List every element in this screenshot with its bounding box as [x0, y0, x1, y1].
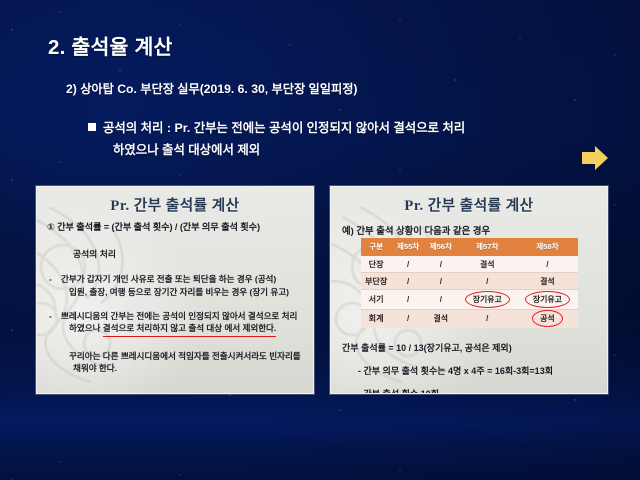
- left-content-panel: Pr. 간부 출석률 계산 ① 간부 출석률 = (간부 출석 횟수) / (간…: [36, 186, 314, 394]
- circled-highlight: 장기유고: [466, 293, 509, 306]
- attendance-formula: ① 간부 출석률 = (간부 출석 횟수) / (간부 의무 출석 횟수): [47, 221, 305, 234]
- left-item2-line2-underlined: 결석으로 처리하지 않고 출석 대상 에서 제외한다.: [103, 322, 277, 336]
- table-cell: /: [392, 309, 425, 328]
- table-header-cell: 제55차: [392, 238, 425, 256]
- bullet-line-1: 공석의 처리 : Pr. 간부는 전에는 공석이 인정되지 않아서 결석으로 처…: [103, 121, 465, 135]
- left-item1-line2: 입원, 출장, 여행 등으로 장기간 자리를 비우는 경우 (장기 유고): [61, 286, 305, 298]
- left-panel-title: Pr. 간부 출석률 계산: [37, 194, 313, 215]
- circled-highlight: 공석: [533, 312, 562, 325]
- table-row: 서기//장기유고장기유고: [361, 290, 578, 309]
- bullet-paragraph: 공석의 처리 : Pr. 간부는 전에는 공석이 인정되지 않아서 결석으로 처…: [88, 117, 578, 161]
- page-subtitle: 2) 상아탑 Co. 부단장 실무(2019. 6. 30, 부단장 일일피정): [66, 79, 357, 97]
- table-header-cell: 제56차: [424, 238, 457, 256]
- right-arrow-icon: [580, 143, 610, 173]
- right-panel-title: Pr. 간부 출석률 계산: [331, 194, 607, 215]
- table-cell: 결석: [457, 256, 517, 273]
- table-header-cell: 제58차: [517, 238, 577, 256]
- table-row-label: 회계: [361, 309, 392, 328]
- left-closing-line2: 채워야 한다.: [69, 362, 305, 374]
- calc-line-2: - 간부 의무 출석 횟수는 4명 x 4주 = 16회-3회=13회: [342, 365, 598, 377]
- table-header-cell: 구분: [361, 238, 392, 256]
- slide-canvas: 2. 출석율 계산 2) 상아탑 Co. 부단장 실무(2019. 6. 30,…: [0, 0, 640, 480]
- left-closing-note: 꾸리아는 다른 쁘레시디움에서 적임자를 전출시켜서라도 빈자리를 채워야 한다…: [47, 350, 305, 375]
- dash-marker: -: [49, 310, 52, 322]
- table-cell: 장기유고: [517, 290, 577, 309]
- table-cell: /: [517, 256, 577, 273]
- bullet-line-2: 하였으나 출석 대상에서 제외: [88, 139, 578, 161]
- calc-line-3: - 간부 출석 횟수 10회: [342, 388, 598, 394]
- table-row: 회계/결석/공석: [361, 309, 578, 328]
- example-intro-text: 예) 간부 출석 상황이 다음과 같은 경우: [342, 223, 490, 237]
- table-cell: /: [424, 256, 457, 273]
- left-list-item-1: - 간부가 갑자기 개인 사유로 전출 또는 퇴단을 하는 경우 (공석) 입원…: [47, 273, 305, 298]
- table-row: 단장//결석/: [361, 256, 578, 273]
- table-row-label: 부단장: [361, 273, 392, 290]
- table-cell: 결석: [517, 273, 577, 290]
- table-cell: 결석: [424, 309, 457, 328]
- attendance-table-wrapper: 구분 제55차 제56차 제57차 제58차 단장//결석/부단장///결석서기…: [360, 237, 578, 328]
- table-row: 부단장///결석: [361, 273, 578, 290]
- table-cell: /: [392, 256, 425, 273]
- attendance-table: 구분 제55차 제56차 제57차 제58차 단장//결석/부단장///결석서기…: [360, 237, 578, 328]
- left-item2-line2-prefix: 하였으나: [69, 323, 103, 333]
- circled-highlight: 장기유고: [526, 293, 569, 306]
- table-row-label: 단장: [361, 256, 392, 273]
- calculation-block: 간부 출석률 = 10 / 13(장기유고, 공석은 제외) - 간부 의무 출…: [342, 342, 598, 394]
- left-panel-body: ① 간부 출석률 = (간부 출석 횟수) / (간부 의무 출석 횟수) 공석…: [47, 221, 305, 375]
- left-item2-line1: 쁘레시디움의 간부는 전에는 공석이 인정되지 않아서 결석으로 처리: [61, 311, 297, 321]
- table-cell: /: [457, 273, 517, 290]
- table-cell: 공석: [517, 309, 577, 328]
- table-row-label: 서기: [361, 290, 392, 309]
- left-item1-line1: 간부가 갑자기 개인 사유로 전출 또는 퇴단을 하는 경우 (공석): [61, 274, 276, 284]
- square-bullet-icon: [88, 123, 96, 131]
- left-list-item-2: - 쁘레시디움의 간부는 전에는 공석이 인정되지 않아서 결석으로 처리 하였…: [47, 310, 305, 337]
- left-closing-line1: 꾸리아는 다른 쁘레시디움에서 적임자를 전출시켜서라도 빈자리를: [69, 351, 301, 361]
- table-header-row: 구분 제55차 제56차 제57차 제58차: [361, 238, 578, 256]
- left-item2-line2: 하였으나 결석으로 처리하지 않고 출석 대상 에서 제외한다.: [61, 322, 305, 336]
- calc-line-1: 간부 출석률 = 10 / 13(장기유고, 공석은 제외): [342, 342, 598, 354]
- table-cell: /: [392, 290, 425, 309]
- table-cell: 장기유고: [457, 290, 517, 309]
- right-content-panel: Pr. 간부 출석률 계산 예) 간부 출석 상황이 다음과 같은 경우 구분 …: [330, 186, 608, 394]
- left-sub-heading: 공석의 처리: [47, 248, 305, 261]
- table-cell: /: [424, 273, 457, 290]
- table-body: 단장//결석/부단장///결석서기//장기유고장기유고회계/결석/공석: [361, 256, 578, 328]
- table-cell: /: [424, 290, 457, 309]
- dash-marker: -: [49, 273, 52, 285]
- table-cell: /: [457, 309, 517, 328]
- table-cell: /: [392, 273, 425, 290]
- page-title: 2. 출석율 계산: [48, 30, 173, 60]
- table-header-cell: 제57차: [457, 238, 517, 256]
